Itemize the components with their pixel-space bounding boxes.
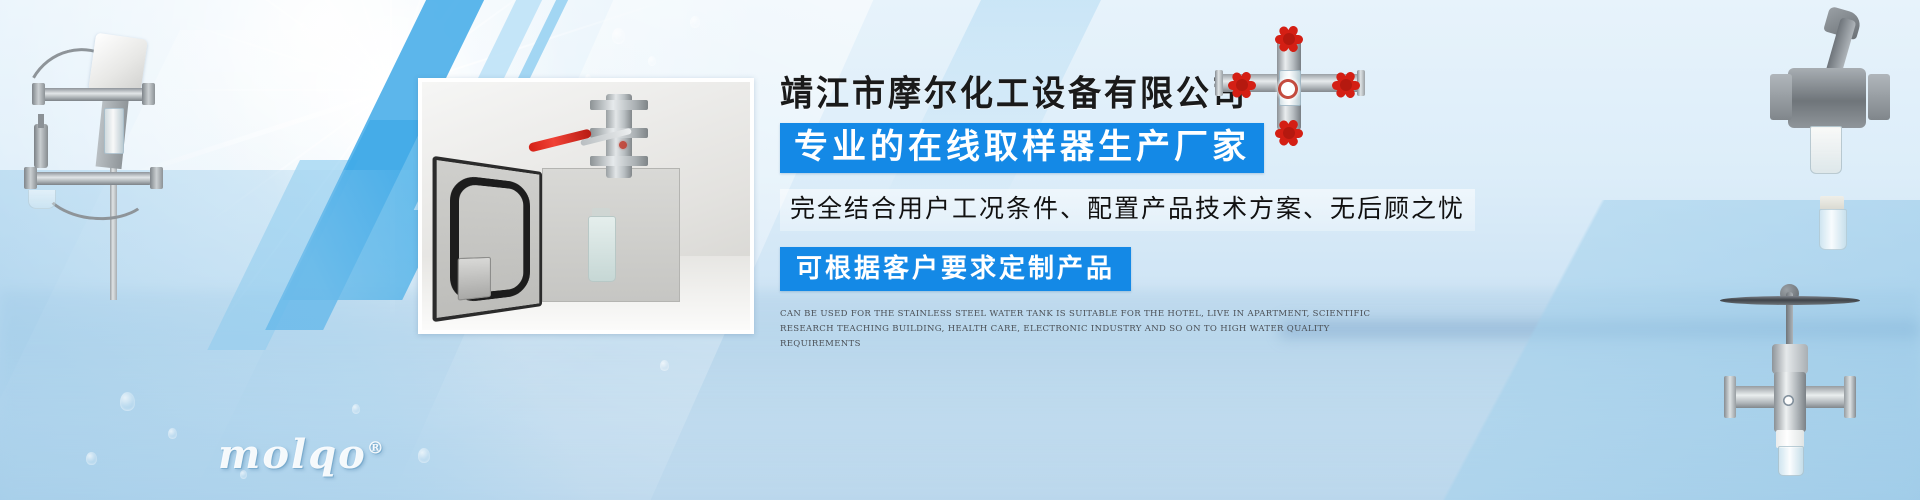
red-handwheel-icon <box>1272 22 1306 56</box>
promo-banner: 靖江市摩尔化工设备有限公司 专业的在线取样器生产厂家 完全结合用户工况条件、配置… <box>0 0 1920 500</box>
red-handwheel-icon <box>1272 116 1306 150</box>
fitting <box>150 167 163 189</box>
upper-manifold <box>38 88 146 101</box>
water-droplet <box>120 392 135 411</box>
right-top-product-cross-manifold <box>1215 30 1365 140</box>
water-droplet <box>418 448 430 463</box>
flange-right <box>1868 74 1890 120</box>
relief-valve <box>34 124 48 168</box>
sample-bottle-small <box>1818 196 1846 248</box>
bottle-body <box>1819 209 1847 250</box>
red-handwheel-icon <box>1225 68 1259 102</box>
collection-cup <box>28 190 56 209</box>
water-droplet <box>690 16 700 28</box>
relief-valve-stem <box>38 114 44 128</box>
lower-manifold <box>30 172 152 185</box>
valve-body <box>1788 68 1866 128</box>
valve-flange <box>590 100 648 110</box>
sample-bottle <box>588 216 616 282</box>
left-product-image <box>14 22 174 302</box>
water-droplet <box>352 404 360 414</box>
center-product-photo <box>418 78 754 334</box>
photo-content <box>422 82 750 330</box>
english-description: CAN BE USED FOR THE STAINLESS STEEL WATE… <box>780 307 1390 352</box>
fitting <box>32 83 45 105</box>
watermark-text: molqo <box>218 431 367 478</box>
water-droplet <box>300 22 307 31</box>
handwheel-disc <box>1720 296 1860 305</box>
brand-seal-icon <box>1782 394 1795 407</box>
valve-flange <box>590 156 648 166</box>
brand-seal-icon <box>616 138 630 152</box>
sample-vial <box>1778 446 1804 476</box>
water-droplet <box>660 360 669 371</box>
flange-left <box>1724 376 1736 418</box>
cta-badge: 可根据客户要求定制产品 <box>780 247 1131 291</box>
fitting <box>142 83 155 105</box>
right-corner-product-angle-valve <box>1770 22 1890 182</box>
fitting <box>24 167 37 189</box>
door-latch <box>458 257 491 301</box>
certification-seal-icon <box>1273 74 1303 104</box>
water-droplet <box>648 56 656 66</box>
subheadline: 完全结合用户工况条件、配置产品技术方案、无后顾之忧 <box>780 189 1475 231</box>
water-droplet <box>612 28 625 44</box>
water-droplet <box>86 452 97 465</box>
sample-bottle <box>1810 126 1842 174</box>
water-droplet <box>168 428 177 439</box>
valve-bonnet <box>1772 344 1808 374</box>
sight-glass <box>104 108 124 154</box>
red-handwheel-icon <box>1329 68 1363 102</box>
flange-right <box>1844 376 1856 418</box>
flange-left <box>1770 74 1792 120</box>
cabinet-door <box>433 156 542 323</box>
registered-mark-icon: ® <box>367 439 384 459</box>
sampling-valve-assembly <box>582 94 654 178</box>
brand-watermark: molqo® <box>218 431 384 478</box>
headline-badge: 专业的在线取样器生产厂家 <box>780 123 1264 173</box>
bottle-cap <box>1820 196 1844 210</box>
right-bottom-product-sampling-valve <box>1720 274 1860 474</box>
